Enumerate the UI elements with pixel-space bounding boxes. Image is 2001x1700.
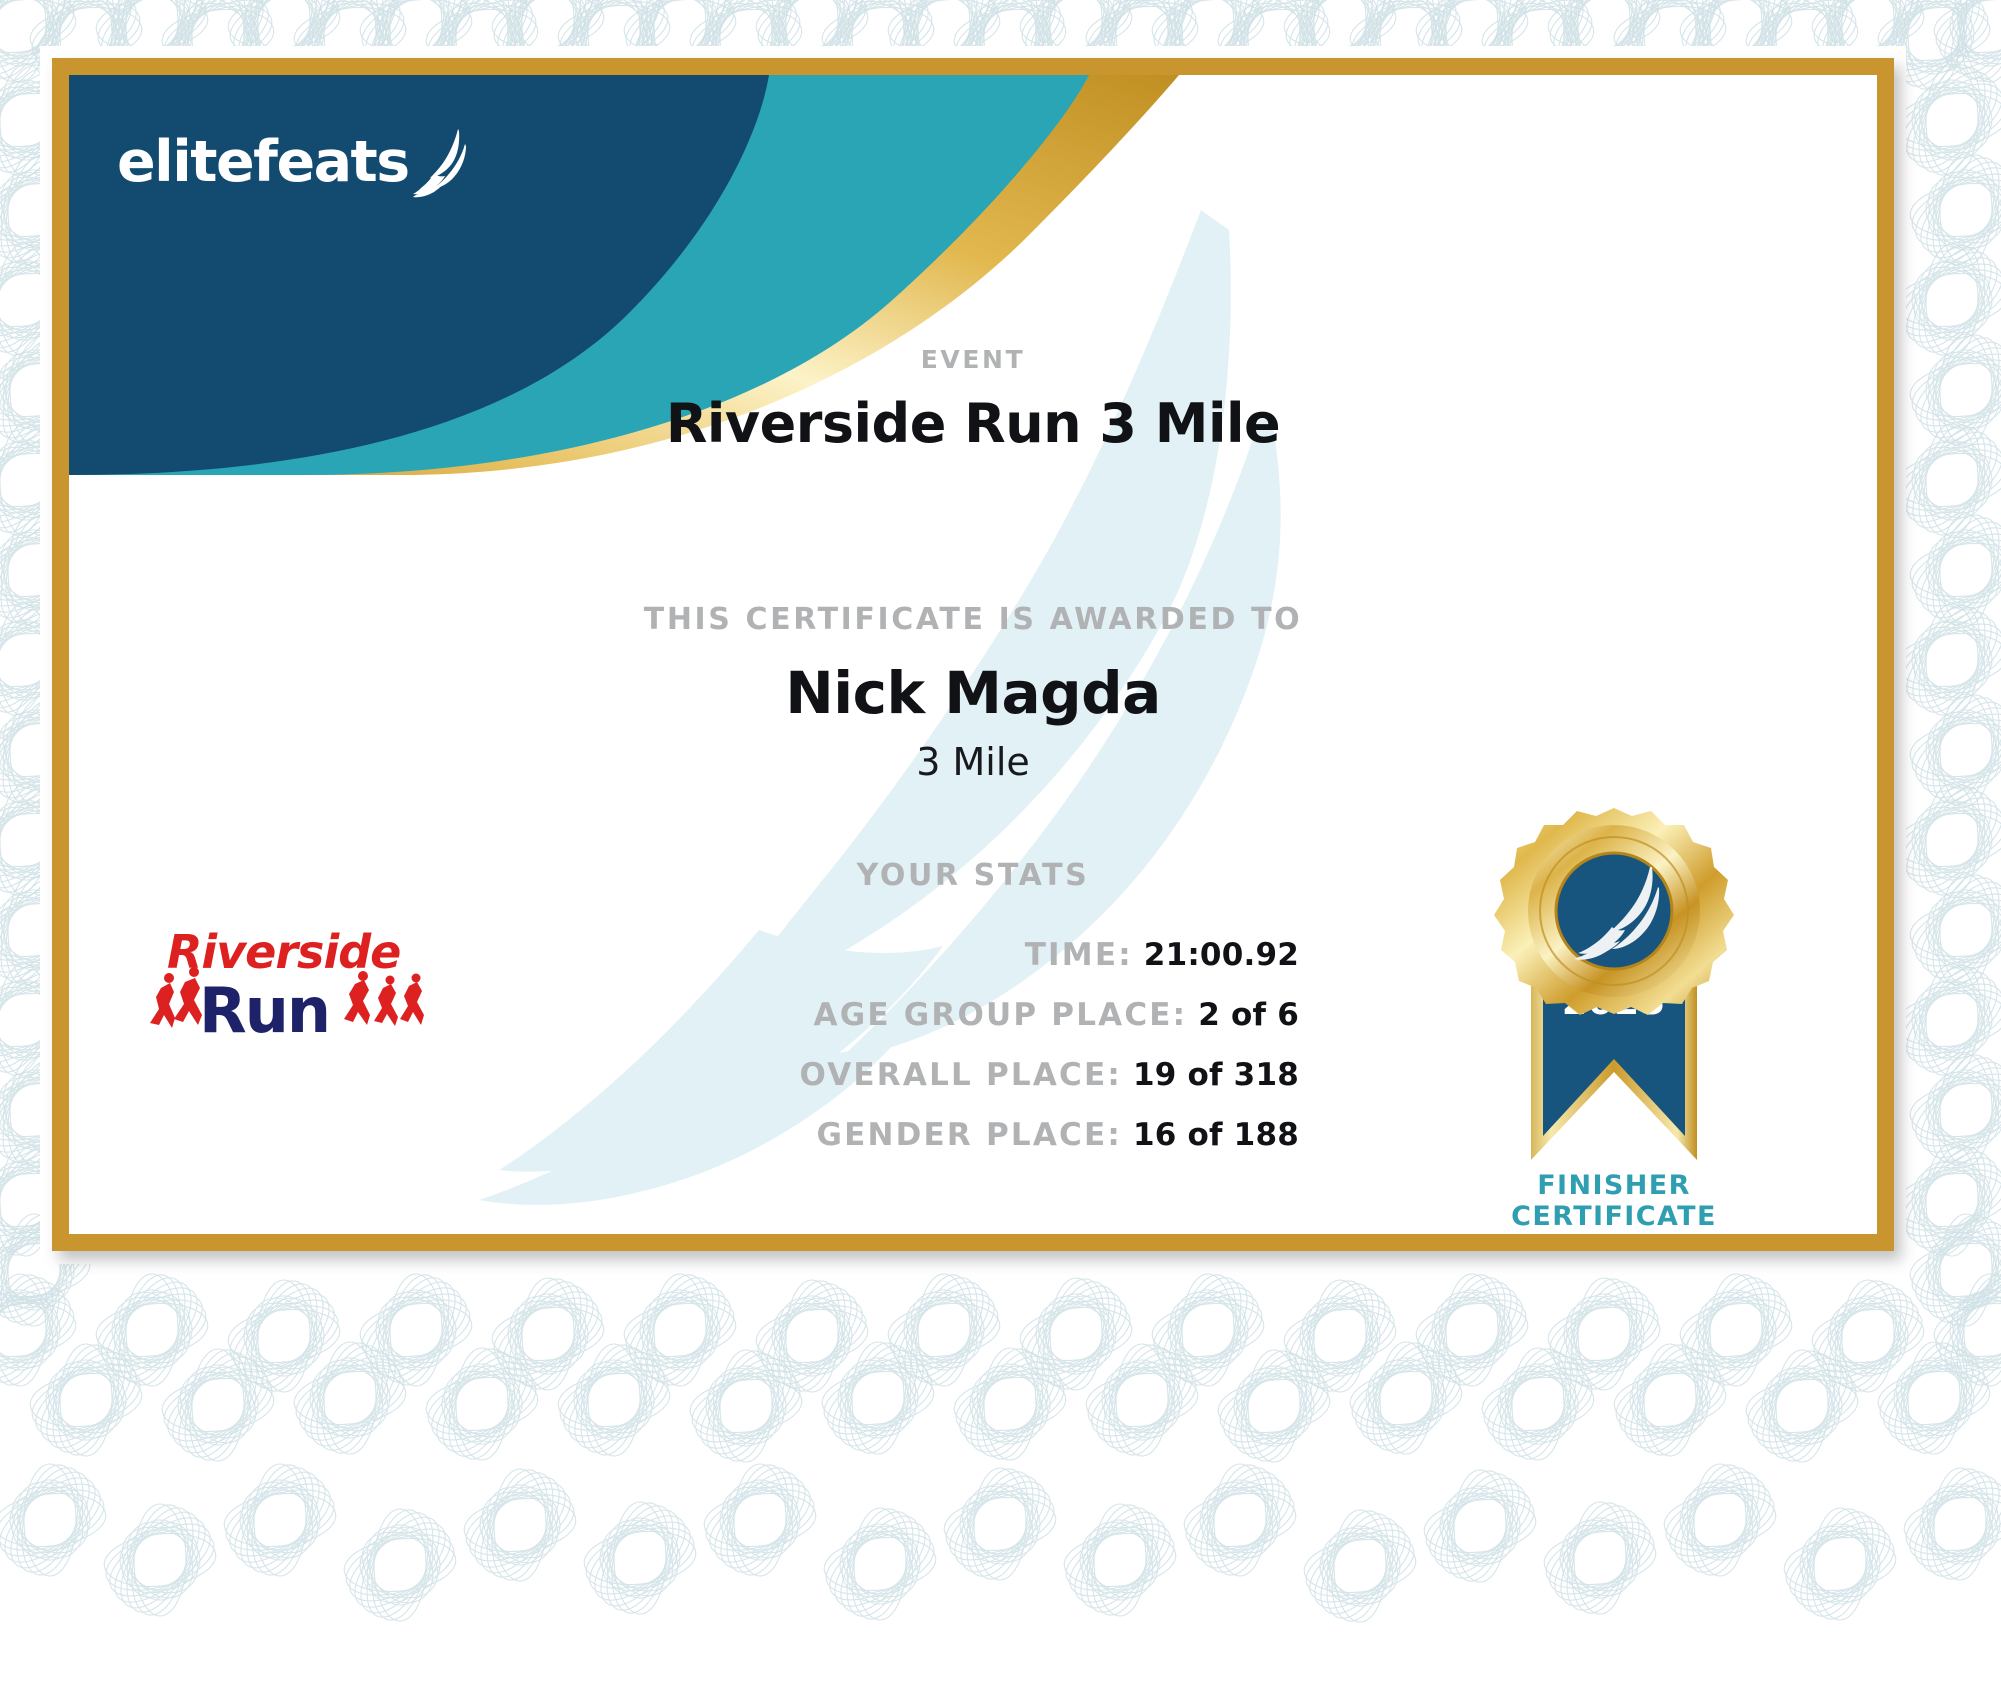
medal-disc (1494, 808, 1734, 1015)
svg-text:Riverside: Riverside (167, 925, 400, 979)
certificate-page: elitefeats EVENT Riverside Run 3 Mile TH… (0, 0, 2001, 1700)
event-label: EVENT (69, 345, 1877, 374)
stats-list: TIME: 21:00.92 AGE GROUP PLACE: 2 of 6 O… (409, 937, 1299, 1177)
stat-key: OVERALL PLACE: (800, 1057, 1122, 1093)
stat-row: OVERALL PLACE: 19 of 318 (409, 1057, 1299, 1117)
stat-key: AGE GROUP PLACE: (814, 997, 1188, 1033)
stat-value: 21:00.92 (1144, 937, 1299, 973)
elitefeats-logo: elitefeats (117, 127, 471, 191)
recipient-name: Nick Magda (69, 659, 1877, 727)
recipient-division: 3 Mile (69, 740, 1877, 784)
medal-caption: FINISHER CERTIFICATE (1449, 1170, 1779, 1232)
stat-row: TIME: 21:00.92 (409, 937, 1299, 997)
elitefeats-wordmark: elitefeats (117, 134, 409, 191)
riverside-run-logo: Riverside Run (147, 920, 437, 1050)
medal-caption-line2: CERTIFICATE (1449, 1201, 1779, 1232)
finisher-medal-badge: 2025 (1469, 800, 1759, 1200)
certificate-inner: elitefeats EVENT Riverside Run 3 Mile TH… (69, 75, 1877, 1234)
stat-key: GENDER PLACE: (816, 1117, 1122, 1153)
awarded-to-label: THIS CERTIFICATE IS AWARDED TO (69, 602, 1877, 637)
certificate-frame: elitefeats EVENT Riverside Run 3 Mile TH… (52, 58, 1894, 1251)
running-figures-icon (344, 971, 424, 1026)
stat-value: 19 of 318 (1133, 1057, 1299, 1093)
event-name: Riverside Run 3 Mile (69, 392, 1877, 455)
medal-caption-line1: FINISHER (1449, 1170, 1779, 1201)
stat-row: AGE GROUP PLACE: 2 of 6 (409, 997, 1299, 1057)
svg-text:Run: Run (199, 974, 329, 1047)
winged-foot-icon (413, 127, 471, 199)
stat-key: TIME: (1025, 937, 1133, 973)
stat-value: 16 of 188 (1133, 1117, 1299, 1153)
stat-row: GENDER PLACE: 16 of 188 (409, 1117, 1299, 1177)
stat-value: 2 of 6 (1198, 997, 1299, 1033)
